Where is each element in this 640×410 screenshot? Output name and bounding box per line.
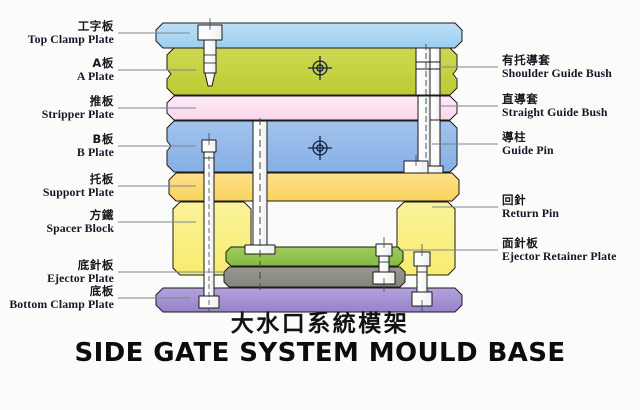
label-ejector-retainer-plate-en: Ejector Retainer Plate bbox=[502, 250, 616, 262]
return-pin-shank bbox=[379, 256, 389, 272]
label-bottom-clamp-plate-en: Bottom Clamp Plate bbox=[0, 298, 114, 310]
label-b-plate-cn: B板 bbox=[0, 134, 114, 146]
label-spacer-block-en: Spacer Block bbox=[0, 222, 114, 234]
label-stripper-plate: 推板 Stripper Plate bbox=[0, 96, 114, 120]
label-shoulder-guide-bush: 有托導套 Shoulder Guide Bush bbox=[502, 55, 612, 79]
straight-guide-bush bbox=[430, 96, 440, 120]
label-guide-pin-cn: 導柱 bbox=[502, 132, 554, 144]
label-shoulder-guide-bush-cn: 有托導套 bbox=[502, 55, 612, 67]
label-straight-guide-bush-cn: 直導套 bbox=[502, 94, 607, 106]
label-return-pin-cn: 回針 bbox=[502, 195, 559, 207]
mould-base-diagram: 工字板 Top Clamp Plate A板 A Plate 推板 Stripp… bbox=[0, 0, 640, 410]
plate-stripper bbox=[167, 96, 430, 120]
label-a-plate-cn: A板 bbox=[0, 58, 114, 70]
plate-a-right-ear bbox=[440, 48, 457, 95]
label-spacer-block-cn: 方鐵 bbox=[0, 210, 114, 222]
label-spacer-block: 方鐵 Spacer Block bbox=[0, 210, 114, 234]
label-support-plate-cn: 托板 bbox=[0, 174, 114, 186]
label-support-plate: 托板 Support Plate bbox=[0, 174, 114, 198]
label-a-plate: A板 A Plate bbox=[0, 58, 114, 82]
diagram-title-cn: 大水口系統模架 bbox=[0, 312, 640, 337]
label-straight-guide-bush-en: Straight Guide Bush bbox=[502, 106, 607, 118]
label-straight-guide-bush: 直導套 Straight Guide Bush bbox=[502, 94, 607, 118]
label-ejector-plate-cn: 底針板 bbox=[0, 260, 114, 272]
label-ejector-plate-en: Ejector Plate bbox=[0, 272, 114, 284]
diagram-title: 大水口系統模架 SIDE GATE SYSTEM MOULD BASE bbox=[0, 312, 640, 368]
diagram-title-en: SIDE GATE SYSTEM MOULD BASE bbox=[0, 339, 640, 368]
label-support-plate-en: Support Plate bbox=[0, 186, 114, 198]
label-top-clamp-plate-cn: 工字板 bbox=[0, 21, 114, 33]
label-ejector-plate: 底針板 Ejector Plate bbox=[0, 260, 114, 284]
label-stripper-plate-cn: 推板 bbox=[0, 96, 114, 108]
label-return-pin: 回針 Return Pin bbox=[502, 195, 559, 219]
plate-b-right-ear bbox=[440, 121, 457, 172]
label-b-plate: B板 B Plate bbox=[0, 134, 114, 158]
label-a-plate-en: A Plate bbox=[0, 70, 114, 82]
label-ejector-retainer-plate-cn: 面針板 bbox=[502, 238, 616, 250]
label-bottom-clamp-plate-cn: 底板 bbox=[0, 286, 114, 298]
label-bottom-clamp-plate: 底板 Bottom Clamp Plate bbox=[0, 286, 114, 310]
label-shoulder-guide-bush-en: Shoulder Guide Bush bbox=[502, 67, 612, 79]
plate-stripper-right-ear bbox=[440, 96, 457, 120]
label-stripper-plate-en: Stripper Plate bbox=[0, 108, 114, 120]
label-top-clamp-plate: 工字板 Top Clamp Plate bbox=[0, 21, 114, 45]
label-ejector-retainer-plate: 面針板 Ejector Retainer Plate bbox=[502, 238, 616, 262]
label-guide-pin-en: Guide Pin bbox=[502, 144, 554, 156]
shoulder-guide-bush bbox=[430, 48, 440, 95]
label-top-clamp-plate-en: Top Clamp Plate bbox=[0, 33, 114, 45]
return-pin-right-shank bbox=[417, 266, 427, 292]
guide-pin bbox=[418, 96, 430, 166]
label-b-plate-en: B Plate bbox=[0, 146, 114, 158]
shoulder-guide-bush-inner bbox=[416, 48, 430, 95]
label-guide-pin: 導柱 Guide Pin bbox=[502, 132, 554, 156]
top-clamp-screw-shank bbox=[204, 40, 216, 73]
label-return-pin-en: Return Pin bbox=[502, 207, 559, 219]
